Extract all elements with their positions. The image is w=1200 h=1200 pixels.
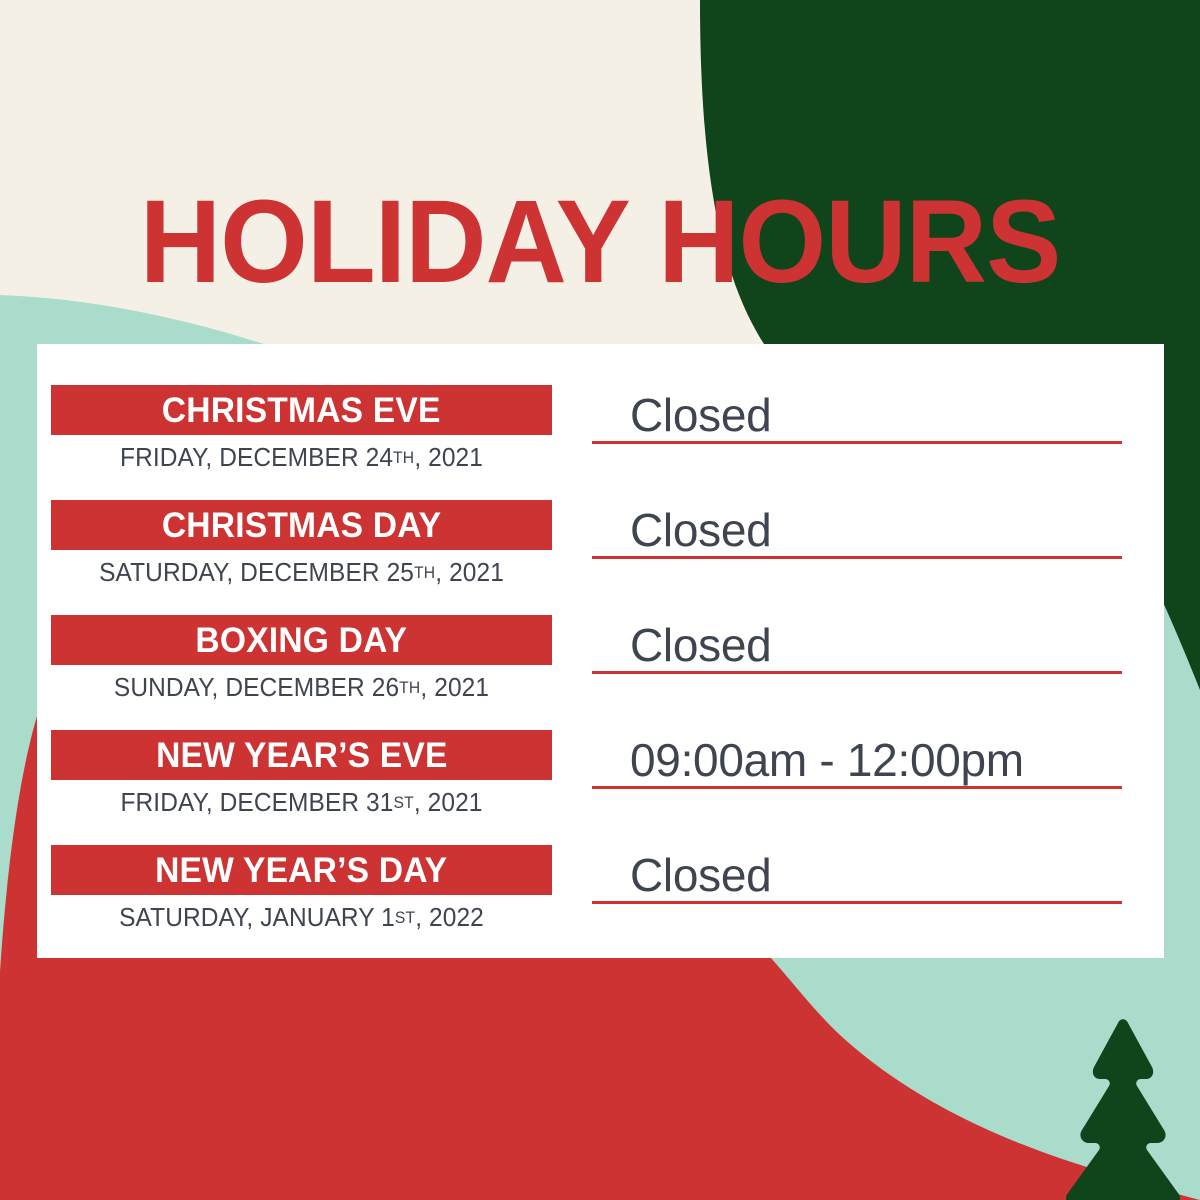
holiday-name-bar: CHRISTMAS DAY [51, 500, 552, 550]
schedule-card: CHRISTMAS EVE FRIDAY, DECEMBER 24TH, 202… [37, 344, 1164, 958]
table-row: CHRISTMAS DAY SATURDAY, DECEMBER 25TH, 2… [37, 492, 1164, 607]
holiday-date: FRIDAY, DECEMBER 24TH, 2021 [61, 439, 542, 477]
holiday-date-suffix: , 2021 [414, 789, 483, 817]
holiday-date-ordinal: TH [393, 444, 414, 472]
holiday-name-label: CHRISTMAS DAY [162, 508, 441, 543]
holiday-date-ordinal: ST [393, 789, 413, 817]
hours-cell: Closed [592, 837, 1122, 904]
table-row: BOXING DAY SUNDAY, DECEMBER 26TH, 2021 C… [37, 607, 1164, 722]
page-title: HOLIDAY HOURS [27, 183, 1173, 301]
holiday-date: FRIDAY, DECEMBER 31ST, 2021 [61, 784, 542, 822]
holiday-date-suffix: , 2021 [414, 444, 483, 472]
holiday-date-suffix: , 2021 [435, 559, 504, 587]
holiday-date-prefix: FRIDAY, DECEMBER 24 [120, 444, 393, 472]
hours-value: Closed [592, 504, 771, 556]
table-row: NEW YEAR’S EVE FRIDAY, DECEMBER 31ST, 20… [37, 722, 1164, 837]
holiday-name-bar: NEW YEAR’S EVE [51, 730, 552, 780]
holiday-name-bar: NEW YEAR’S DAY [51, 845, 552, 895]
holiday-date: SUNDAY, DECEMBER 26TH, 2021 [61, 669, 542, 707]
hours-cell: Closed [592, 377, 1122, 444]
holiday-name-label: NEW YEAR’S EVE [156, 738, 447, 773]
holiday-name-bar: BOXING DAY [51, 615, 552, 665]
table-row: CHRISTMAS EVE FRIDAY, DECEMBER 24TH, 202… [37, 377, 1164, 492]
hours-cell: 09:00am - 12:00pm [592, 722, 1122, 789]
hours-value: 09:00am - 12:00pm [592, 734, 1024, 786]
holiday-name-label: NEW YEAR’S DAY [155, 853, 447, 888]
holiday-date-ordinal: TH [399, 674, 420, 702]
hours-cell: Closed [592, 492, 1122, 559]
holiday-date-prefix: SUNDAY, DECEMBER 26 [114, 674, 399, 702]
hours-value: Closed [592, 389, 771, 441]
holiday-date-prefix: FRIDAY, DECEMBER 31 [120, 789, 393, 817]
table-row: NEW YEAR’S DAY SATURDAY, JANUARY 1ST, 20… [37, 837, 1164, 952]
holiday-date-suffix: , 2021 [420, 674, 489, 702]
holiday-date-ordinal: ST [395, 904, 415, 932]
holiday-date-ordinal: TH [414, 559, 435, 587]
holiday-name-label: BOXING DAY [196, 623, 408, 658]
holiday-name-label: CHRISTMAS EVE [162, 393, 441, 428]
holiday-date-prefix: SATURDAY, DECEMBER 25 [99, 559, 414, 587]
holiday-hours-poster: HOLIDAY HOURS CHRISTMAS EVE FRIDAY, DECE… [0, 0, 1200, 1200]
holiday-date-prefix: SATURDAY, JANUARY 1 [119, 904, 395, 932]
holiday-date: SATURDAY, DECEMBER 25TH, 2021 [61, 554, 542, 592]
holiday-name-bar: CHRISTMAS EVE [51, 385, 552, 435]
holiday-date: SATURDAY, JANUARY 1ST, 2022 [61, 899, 542, 937]
hours-value: Closed [592, 849, 771, 901]
holiday-date-suffix: , 2022 [415, 904, 484, 932]
hours-value: Closed [592, 619, 771, 671]
hours-cell: Closed [592, 607, 1122, 674]
